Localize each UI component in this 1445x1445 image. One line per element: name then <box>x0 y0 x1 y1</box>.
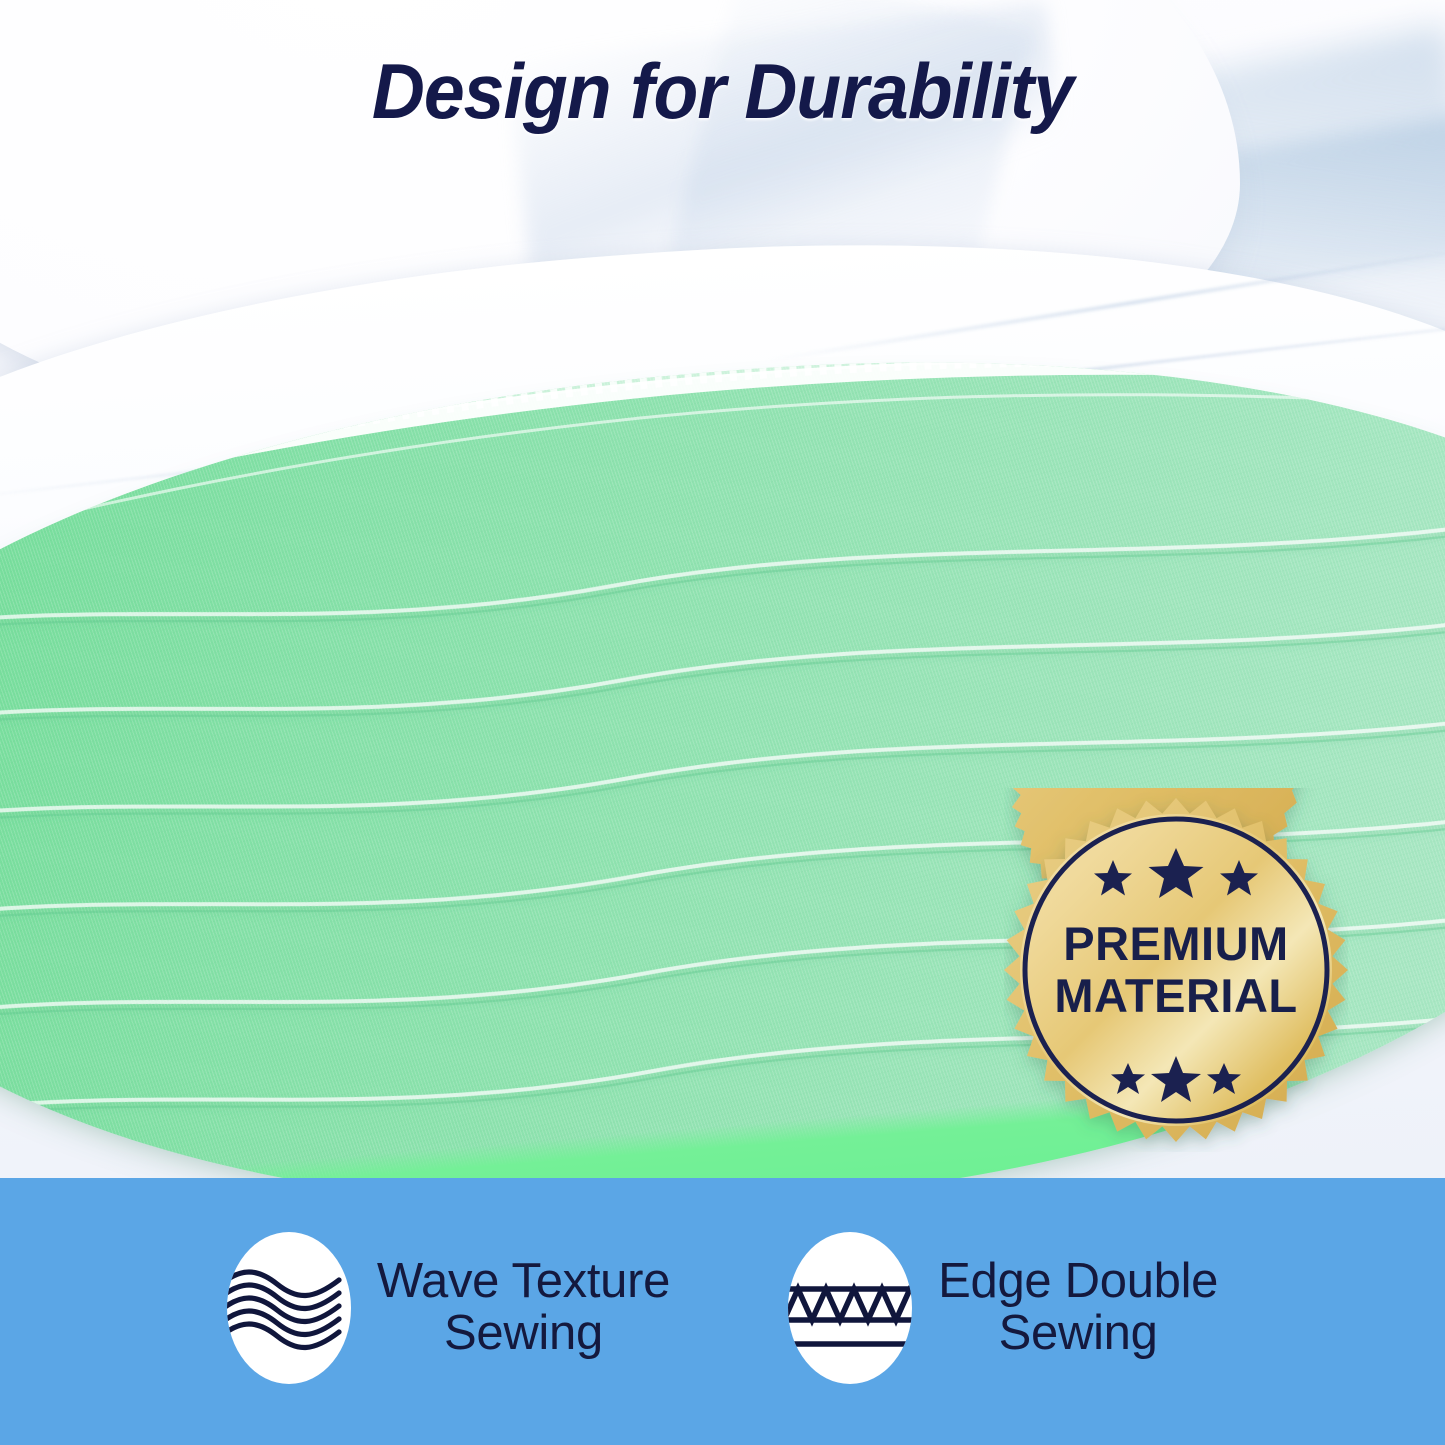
feature-label-edge-double-sewing: Edge Double Sewing <box>938 1256 1218 1360</box>
headline: Design for Durability <box>43 46 1401 137</box>
feature-list: Wave Texture Sewing Edge Double Sewing <box>0 1232 1445 1384</box>
zigzag-stitch-icon <box>788 1232 912 1384</box>
product-photo: PREMIUM MATERIAL <box>0 0 1445 1182</box>
feature-wave-texture-sewing: Wave Texture Sewing <box>227 1232 670 1384</box>
premium-material-badge: PREMIUM MATERIAL <box>1004 788 1348 1152</box>
wave-lines-icon <box>227 1232 351 1384</box>
feature-edge-double-sewing: Edge Double Sewing <box>788 1232 1218 1384</box>
product-marketing-image: PREMIUM MATERIAL Design for Durability <box>0 0 1445 1445</box>
feature-band: Wave Texture Sewing Edge Double Sewing <box>0 1178 1445 1445</box>
feature-label-wave-texture-sewing: Wave Texture Sewing <box>377 1256 670 1360</box>
